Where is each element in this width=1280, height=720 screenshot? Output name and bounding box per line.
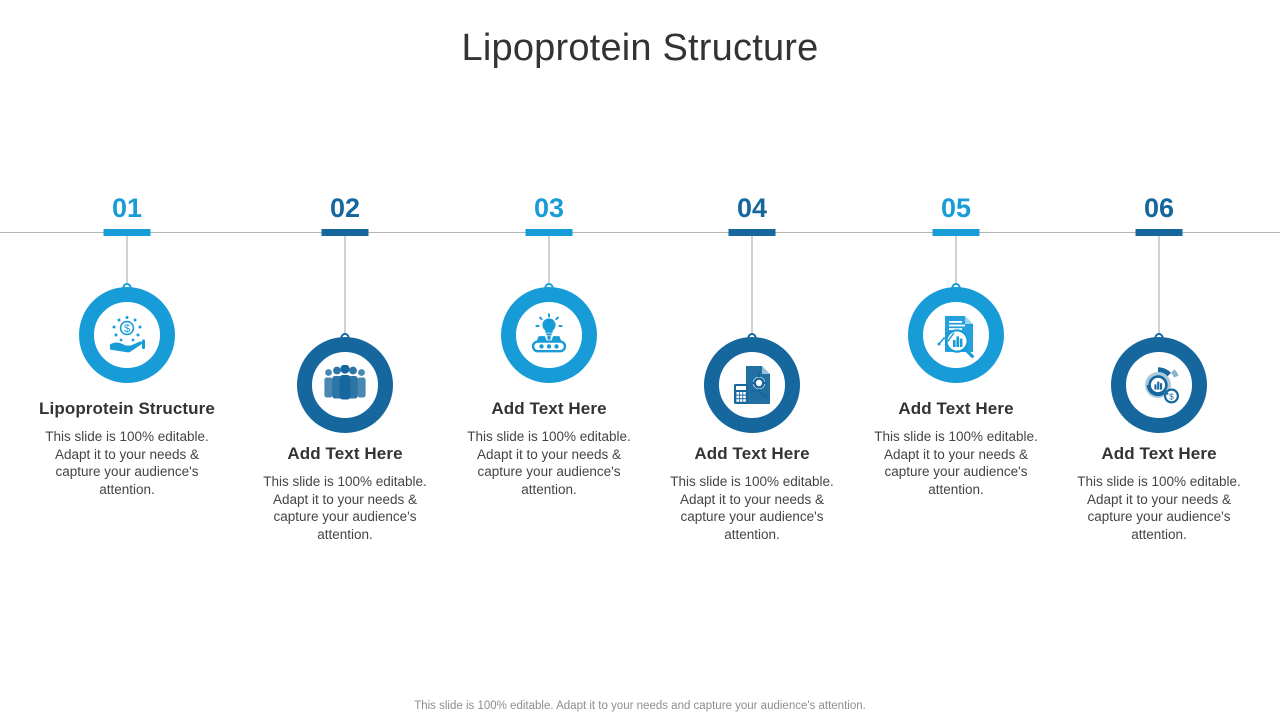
svg-text:$: $ <box>124 323 130 335</box>
item-number-02: 02 <box>243 192 447 224</box>
item-body: This slide is 100% editable. Adapt it to… <box>854 428 1058 498</box>
item-number-06: 06 <box>1057 192 1261 224</box>
item-connector-line <box>752 236 753 338</box>
item-body: This slide is 100% editable. Adapt it to… <box>447 428 651 498</box>
item-text-block: Add Text HereThis slide is 100% editable… <box>243 444 447 543</box>
hand-holding-dollar-icon: $ <box>104 312 150 358</box>
lightbulb-conveyor-icon-ring[interactable] <box>501 287 597 383</box>
item-heading: Add Text Here <box>1057 444 1261 464</box>
item-number-bar <box>729 229 776 236</box>
item-number-bar <box>526 229 573 236</box>
timeline-item-05[interactable]: 05 Add Text HereThis slide is 100% edita… <box>854 0 1058 720</box>
item-number-03: 03 <box>447 192 651 224</box>
timeline-items: 01 $ Lipoprotein StructureThis slide is … <box>0 0 1280 720</box>
item-heading: Add Text Here <box>447 399 651 419</box>
pie-chart-coin-icon-ring[interactable]: $ <box>1111 337 1207 433</box>
timeline-item-01[interactable]: 01 $ Lipoprotein StructureThis slide is … <box>25 0 229 720</box>
item-text-block: Add Text HereThis slide is 100% editable… <box>650 444 854 543</box>
item-body: This slide is 100% editable. Adapt it to… <box>243 473 447 543</box>
document-magnifier-chart-icon <box>933 312 979 358</box>
document-calculator-icon <box>729 362 775 408</box>
item-connector-line <box>127 236 128 288</box>
item-number-04: 04 <box>650 192 854 224</box>
pie-chart-coin-icon: $ <box>1136 363 1182 407</box>
item-number-bar <box>104 229 151 236</box>
document-calculator-icon-ring[interactable] <box>704 337 800 433</box>
item-connector-line <box>1159 236 1160 338</box>
item-connector-line <box>549 236 550 288</box>
item-number-bar <box>1136 229 1183 236</box>
item-heading: Add Text Here <box>243 444 447 464</box>
item-text-block: Add Text HereThis slide is 100% editable… <box>1057 444 1261 543</box>
timeline-item-06[interactable]: 06 $ Add Text HereThis slide is 100% edi… <box>1057 0 1261 720</box>
item-heading: Lipoprotein Structure <box>25 399 229 419</box>
people-group-icon-ring[interactable] <box>297 337 393 433</box>
item-heading: Add Text Here <box>650 444 854 464</box>
item-number-05: 05 <box>854 192 1058 224</box>
item-number-01: 01 <box>25 192 229 224</box>
item-text-block: Add Text HereThis slide is 100% editable… <box>854 399 1058 498</box>
item-number-bar <box>322 229 369 236</box>
item-text-block: Add Text HereThis slide is 100% editable… <box>447 399 651 498</box>
svg-text:$: $ <box>1169 393 1174 402</box>
footer-note: This slide is 100% editable. Adapt it to… <box>0 700 1280 712</box>
timeline-item-04[interactable]: 04 Add Text HereThis slide is 100% edita… <box>650 0 854 720</box>
hand-holding-dollar-icon-ring[interactable]: $ <box>79 287 175 383</box>
slide-canvas: Lipoprotein Structure 01 $ Lipoprotein S… <box>0 0 1280 720</box>
item-heading: Add Text Here <box>854 399 1058 419</box>
item-connector-line <box>956 236 957 288</box>
item-text-block: Lipoprotein StructureThis slide is 100% … <box>25 399 229 498</box>
item-body: This slide is 100% editable. Adapt it to… <box>1057 473 1261 543</box>
people-group-icon <box>322 365 368 405</box>
document-magnifier-chart-icon-ring[interactable] <box>908 287 1004 383</box>
item-body: This slide is 100% editable. Adapt it to… <box>25 428 229 498</box>
lightbulb-conveyor-icon <box>525 313 573 357</box>
timeline-item-02[interactable]: 02 Add Text HereThis slide is 100% edita… <box>243 0 447 720</box>
timeline-item-03[interactable]: 03 Add Text HereThis slide is 100% edita… <box>447 0 651 720</box>
item-body: This slide is 100% editable. Adapt it to… <box>650 473 854 543</box>
item-connector-line <box>345 236 346 338</box>
item-number-bar <box>933 229 980 236</box>
